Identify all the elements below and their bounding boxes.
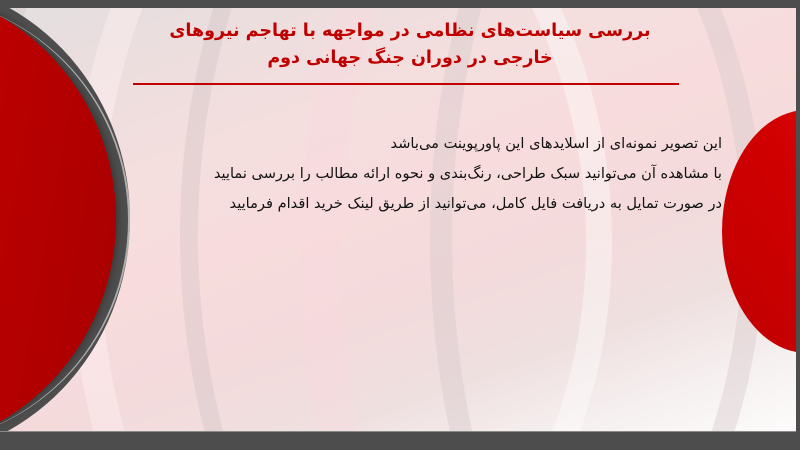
- slide-body: این تصویر نمونه‌ای از اسلایدهای این پاور…: [92, 129, 722, 219]
- slide-content-panel: بررسی سیاست‌های نظامی در مواجهه با تهاجم…: [0, 7, 800, 431]
- slide-title-line-1: بررسی سیاست‌های نظامی در مواجهه با تهاجم…: [130, 18, 690, 45]
- slide-title-line-2: خارجی در دوران جنگ جهانی دوم: [130, 45, 690, 72]
- bottom-frame-bar: [0, 431, 800, 450]
- slide-body-line-3: در صورت تمایل به دریافت فایل کامل، می‌تو…: [92, 189, 722, 219]
- right-frame-edge: [796, 0, 800, 450]
- top-frame-bar: [0, 0, 800, 8]
- slide-body-line-2: با مشاهده آن می‌توانید سبک طراحی، رنگ‌بن…: [92, 159, 722, 189]
- slide-canvas: بررسی سیاست‌های نظامی در مواجهه با تهاجم…: [0, 0, 800, 450]
- slide-body-line-1: این تصویر نمونه‌ای از اسلایدهای این پاور…: [92, 129, 722, 159]
- left-ellipse-highlight: [0, 7, 130, 431]
- title-underline-rule: [133, 83, 679, 85]
- slide-title: بررسی سیاست‌های نظامی در مواجهه با تهاجم…: [130, 18, 690, 72]
- right-red-ellipse: [722, 110, 800, 353]
